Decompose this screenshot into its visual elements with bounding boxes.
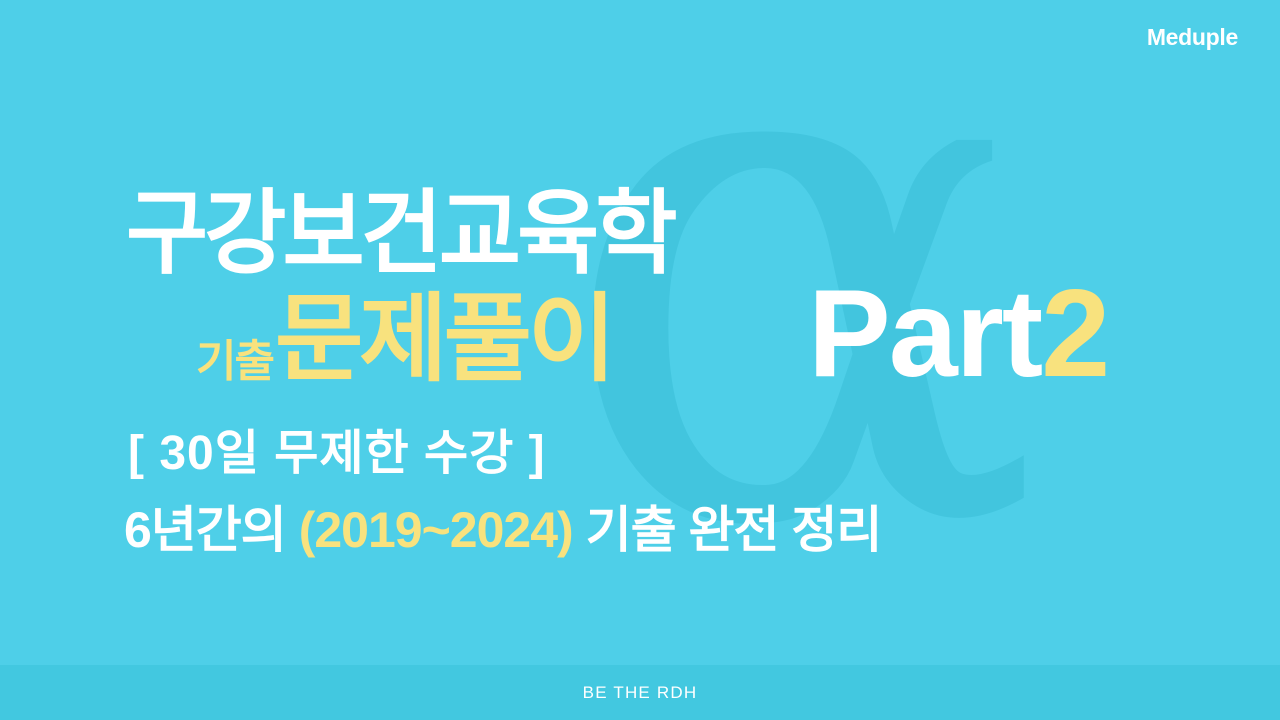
brand-logo: Meduple	[1147, 26, 1238, 49]
part-badge-word: Part	[808, 265, 1041, 403]
subtitle-row: 기출 문제풀이	[196, 292, 612, 388]
footer-band: BE THE RDH	[0, 665, 1280, 720]
coverage-prefix: 6년간의	[124, 502, 299, 558]
part-badge: Part2	[808, 272, 1108, 396]
coverage-note: 6년간의 (2019~2024) 기출 완전 정리	[124, 505, 881, 555]
banner-content: 구강보건교육학 기출 문제풀이 Part2 [ 30일 무제한 수강 ] 6년간…	[0, 0, 1280, 665]
coverage-year-range: (2019~2024)	[299, 502, 573, 558]
coverage-suffix: 기출 완전 정리	[573, 502, 882, 558]
access-duration-note: [ 30일 무제한 수강 ]	[128, 430, 546, 478]
page-title: 구강보건교육학	[126, 188, 674, 280]
subtitle-small-label: 기출	[196, 340, 273, 384]
course-promo-banner: α Meduple 구강보건교육학 기출 문제풀이 Part2 [ 30일 무제…	[0, 0, 1280, 720]
subtitle-large-label: 문제풀이	[275, 292, 612, 388]
footer-tagline: BE THE RDH	[583, 684, 698, 701]
part-badge-number: 2	[1041, 265, 1108, 403]
